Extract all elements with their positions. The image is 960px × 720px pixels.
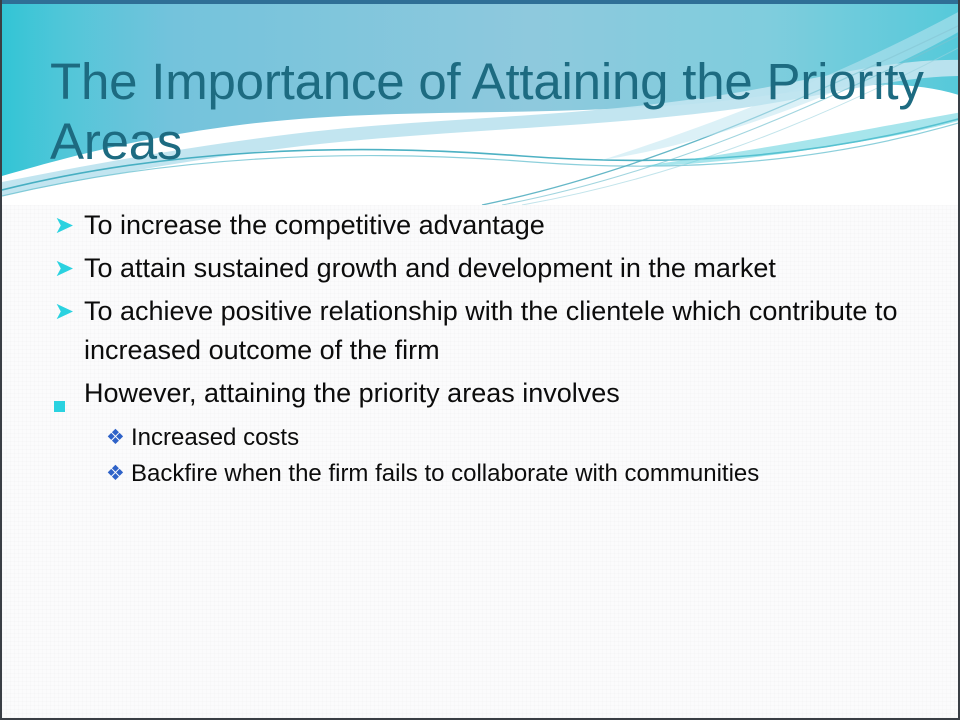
sub-bullet-item: ❖ Increased costs: [54, 421, 934, 455]
bullet-text: However, attaining the priority areas in…: [84, 374, 934, 413]
presentation-slide: The Importance of Attaining the Priority…: [0, 0, 960, 720]
title-block: The Importance of Attaining the Priority…: [50, 52, 930, 172]
bullet-text: To increase the competitive advantage: [84, 206, 934, 245]
diamond-bullet-icon: ❖: [106, 457, 131, 484]
slide-title: The Importance of Attaining the Priority…: [50, 52, 930, 172]
sub-bullet-item: ❖ Backfire when the firm fails to collab…: [54, 457, 934, 491]
sub-bullet-text: Backfire when the firm fails to collabor…: [131, 457, 934, 491]
bullet-item: ➤ To attain sustained growth and develop…: [54, 249, 934, 288]
bullet-item: However, attaining the priority areas in…: [54, 374, 934, 417]
bullet-text: To attain sustained growth and developme…: [84, 249, 934, 288]
arrow-bullet-icon: ➤: [54, 206, 84, 237]
slide-body: ➤ To increase the competitive advantage …: [54, 206, 934, 493]
bullet-text: To achieve positive relationship with th…: [84, 292, 934, 370]
sub-bullet-text: Increased costs: [131, 421, 934, 455]
diamond-bullet-icon: ❖: [106, 421, 131, 448]
bullet-item: ➤ To increase the competitive advantage: [54, 206, 934, 245]
arrow-bullet-icon: ➤: [54, 249, 84, 280]
bullet-item: ➤ To achieve positive relationship with …: [54, 292, 934, 370]
arrow-bullet-icon: ➤: [54, 292, 84, 323]
square-bullet-icon: [54, 374, 84, 417]
